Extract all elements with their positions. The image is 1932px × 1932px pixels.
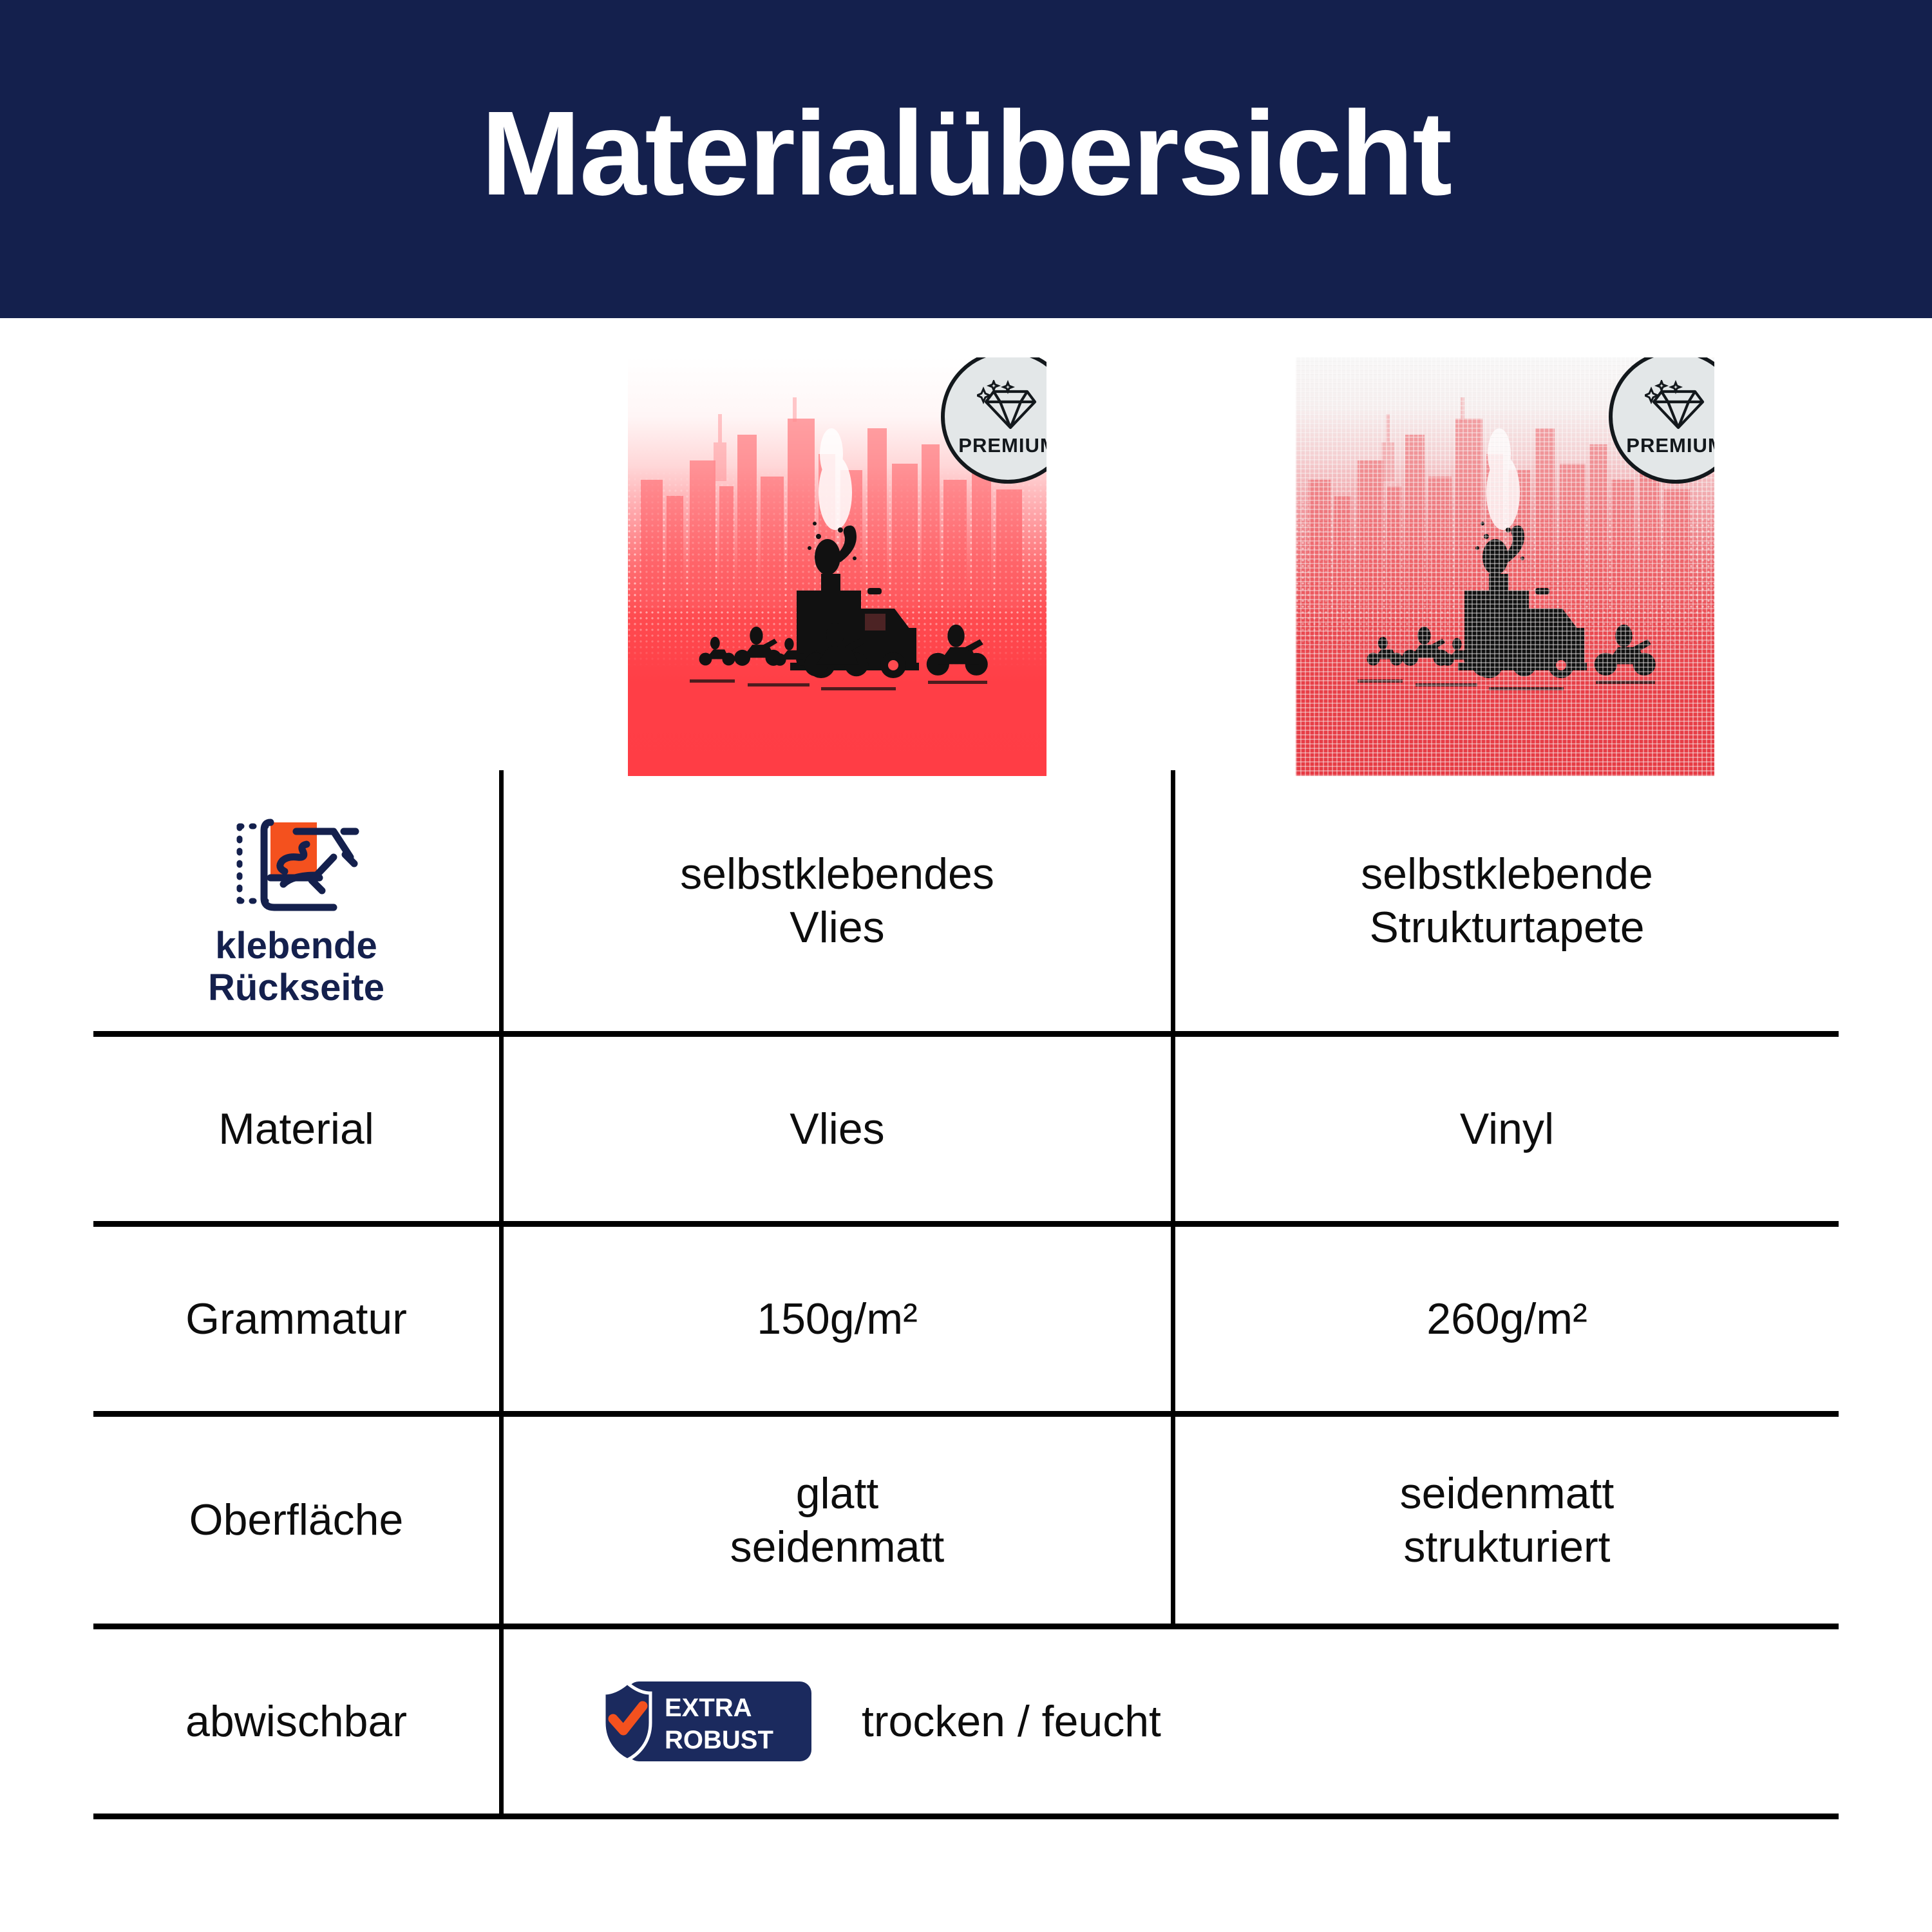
table-row-material: Material Vlies Vinyl — [93, 1037, 1839, 1227]
column-header-vlies: selbstklebendes Vlies — [499, 770, 1171, 1031]
adhesive-back-cell: klebende Rückseite — [93, 770, 499, 1031]
oberflaeche-strukturtapete-line2: strukturiert — [1400, 1520, 1615, 1574]
row-label-grammatur: Grammatur — [93, 1227, 499, 1411]
row-label-material: Material — [93, 1037, 499, 1221]
oberflaeche-vlies-line1: glatt — [730, 1467, 945, 1520]
premium-label: PREMIUM — [1626, 434, 1714, 457]
column-header-vlies-line2: Vlies — [680, 901, 994, 954]
extra-robust-line1: EXTRA — [665, 1694, 752, 1722]
page-header: Materialübersicht — [0, 0, 1932, 318]
premium-label: PREMIUM — [958, 434, 1046, 457]
product-preview-strukturtapete[interactable]: PREMIUM — [1296, 357, 1714, 776]
column-header-strukturtapete-line2: Strukturtapete — [1361, 901, 1653, 954]
abwischbar-value-cell: EXTRA ROBUST trocken / feucht — [499, 1629, 1839, 1814]
diamond-icon — [977, 380, 1039, 431]
table-row-oberflaeche: Oberfläche glatt seidenmatt seidenmatt s… — [93, 1417, 1839, 1629]
column-header-vlies-line1: selbstklebendes — [680, 848, 994, 901]
table-row-grammatur: Grammatur 150g/m² 260g/m² — [93, 1227, 1839, 1417]
material-value-strukturtapete: Vinyl — [1171, 1037, 1839, 1221]
adhesive-back-caption-line2: Rückseite — [208, 967, 384, 1009]
grammatur-value-vlies: 150g/m² — [499, 1227, 1171, 1411]
shield-check-icon: EXTRA ROBUST — [600, 1679, 813, 1764]
abwischbar-value: trocken / feucht — [862, 1696, 1161, 1747]
product-preview-vlies[interactable]: PREMIUM — [628, 357, 1046, 776]
peeling-sticker-icon — [225, 812, 367, 915]
page-title: Materialübersicht — [481, 94, 1451, 214]
table-row-header: klebende Rückseite selbstklebendes Vlies… — [93, 770, 1839, 1037]
column-header-strukturtapete: selbstklebende Strukturtapete — [1171, 770, 1839, 1031]
oberflaeche-value-vlies: glatt seidenmatt — [499, 1417, 1171, 1624]
diamond-icon — [1645, 380, 1707, 431]
row-label-oberflaeche: Oberfläche — [93, 1417, 499, 1624]
column-header-strukturtapete-line1: selbstklebende — [1361, 848, 1653, 901]
adhesive-back-caption-line1: klebende — [208, 925, 384, 967]
row-label-abwischbar: abwischbar — [93, 1629, 499, 1814]
adhesive-back-caption: klebende Rückseite — [208, 925, 384, 1009]
oberflaeche-vlies-line2: seidenmatt — [730, 1520, 945, 1574]
oberflaeche-strukturtapete-line1: seidenmatt — [1400, 1467, 1615, 1520]
material-value-vlies: Vlies — [499, 1037, 1171, 1221]
table-row-abwischbar: abwischbar EXTRA ROBUST trocken / feucht — [93, 1629, 1839, 1819]
extra-robust-badge: EXTRA ROBUST — [600, 1679, 813, 1764]
oberflaeche-value-strukturtapete: seidenmatt strukturiert — [1171, 1417, 1839, 1624]
extra-robust-line2: ROBUST — [665, 1726, 773, 1754]
material-comparison-table: klebende Rückseite selbstklebendes Vlies… — [93, 770, 1839, 1819]
grammatur-value-strukturtapete: 260g/m² — [1171, 1227, 1839, 1411]
